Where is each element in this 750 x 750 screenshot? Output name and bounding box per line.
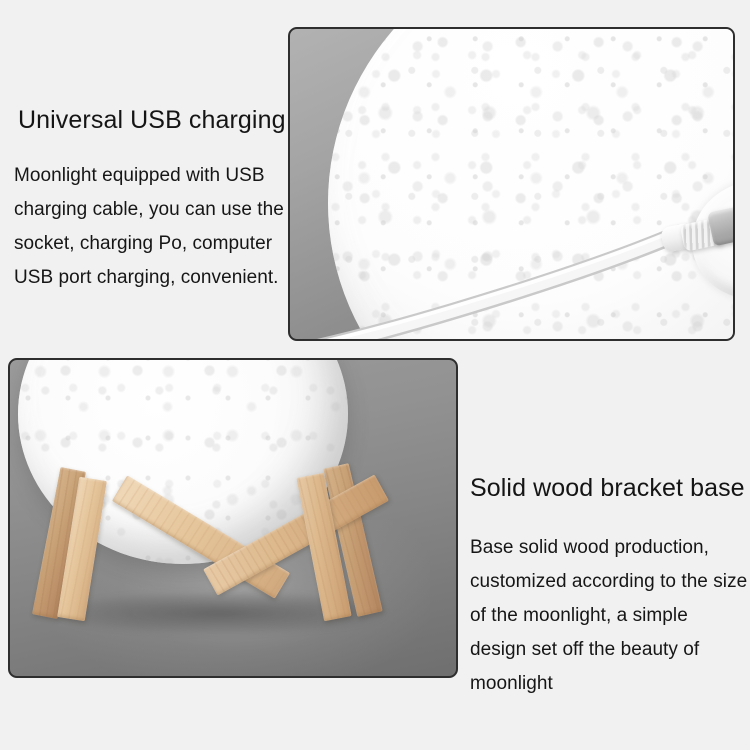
product-infographic: Universal USB charging Moonlight equippe… [0,0,750,750]
usb-trident-icon [734,216,735,233]
wood-bracket-description: Base solid wood production, customized a… [470,531,748,701]
wood-bracket-heading: Solid wood bracket base [470,474,745,503]
usb-charging-heading: Universal USB charging [18,106,286,135]
moon-sphere [328,27,735,341]
usb-charging-photo [288,27,735,341]
usb-charging-description: Moonlight equipped with USB charging cab… [14,159,288,295]
moon-texture [328,27,735,341]
wood-bracket-photo [8,358,458,678]
